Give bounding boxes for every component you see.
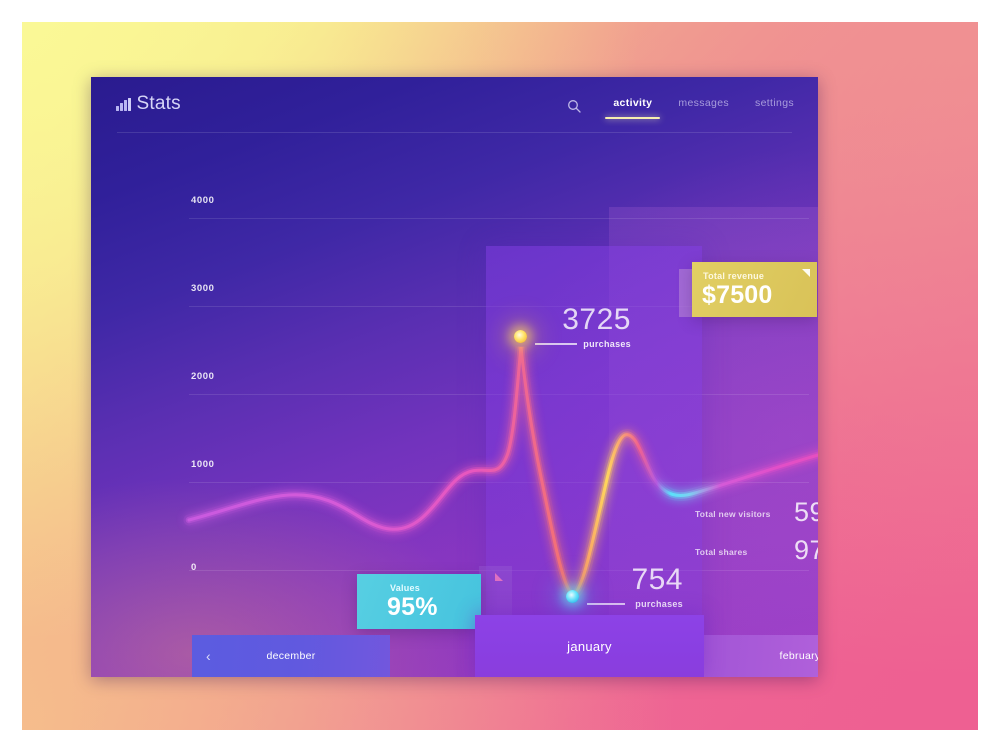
y-tick-4000: 4000 bbox=[191, 195, 215, 206]
summary-stats-list: Total new visitors 5945 Total shares 973 bbox=[695, 501, 818, 577]
total-revenue-value: $7500 bbox=[702, 281, 773, 310]
stat-label-shares: Total shares bbox=[695, 547, 747, 557]
callout-high-value: 3725 bbox=[491, 305, 631, 335]
main-nav: activity messages settings bbox=[567, 97, 794, 119]
y-tick-2000: 2000 bbox=[191, 371, 215, 382]
month-current-label: january bbox=[567, 639, 612, 654]
callout-low-value: 754 bbox=[543, 565, 683, 595]
callout-low-label: purchases bbox=[543, 599, 683, 609]
nav-item-settings[interactable]: settings bbox=[755, 97, 794, 119]
y-tick-3000: 3000 bbox=[191, 283, 215, 294]
total-revenue-label: Total revenue bbox=[703, 271, 764, 281]
total-revenue-card[interactable]: Total revenue $7500 bbox=[692, 262, 817, 317]
gridline-4000 bbox=[189, 218, 809, 219]
month-prev-button[interactable]: ‹ december bbox=[192, 635, 390, 677]
stat-label-visitors: Total new visitors bbox=[695, 509, 771, 519]
stat-value-shares: 973 bbox=[794, 535, 818, 566]
chevron-left-icon: ‹ bbox=[206, 648, 211, 664]
month-next-label: february bbox=[780, 650, 818, 662]
y-tick-1000: 1000 bbox=[191, 459, 215, 470]
stat-value-visitors: 5945 bbox=[794, 497, 818, 528]
y-tick-0: 0 bbox=[191, 562, 197, 573]
triangle-corner-icon bbox=[495, 573, 503, 581]
nav-active-underline bbox=[605, 117, 660, 120]
nav-item-messages[interactable]: messages bbox=[678, 97, 729, 119]
month-next-button[interactable]: february › bbox=[702, 635, 818, 677]
month-current-button[interactable]: january bbox=[475, 615, 704, 677]
stat-row-shares: Total shares 973 bbox=[695, 539, 818, 577]
data-point-high[interactable] bbox=[514, 330, 527, 343]
data-point-low[interactable] bbox=[566, 590, 579, 603]
bar-chart-icon bbox=[116, 98, 131, 111]
triangle-corner-icon bbox=[802, 269, 810, 277]
month-selector: ‹ december february › january bbox=[91, 615, 818, 677]
app-header: Stats activity messages settings bbox=[91, 77, 818, 133]
stat-row-visitors: Total new visitors 5945 bbox=[695, 501, 818, 539]
month-prev-label: december bbox=[266, 650, 315, 662]
nav-item-activity-label: activity bbox=[613, 97, 652, 109]
callout-high: 3725 purchases bbox=[491, 305, 631, 349]
app-logo-label: Stats bbox=[137, 93, 181, 115]
callout-low: 754 purchases bbox=[543, 565, 683, 609]
app-logo[interactable]: Stats bbox=[116, 93, 181, 115]
dashboard-window: Stats activity messages settings 4000 bbox=[91, 77, 818, 677]
values-card-label: Values bbox=[390, 583, 420, 593]
search-icon[interactable] bbox=[567, 99, 581, 118]
nav-item-activity[interactable]: activity bbox=[613, 97, 652, 119]
callout-high-label: purchases bbox=[491, 339, 631, 349]
header-divider bbox=[117, 132, 792, 133]
